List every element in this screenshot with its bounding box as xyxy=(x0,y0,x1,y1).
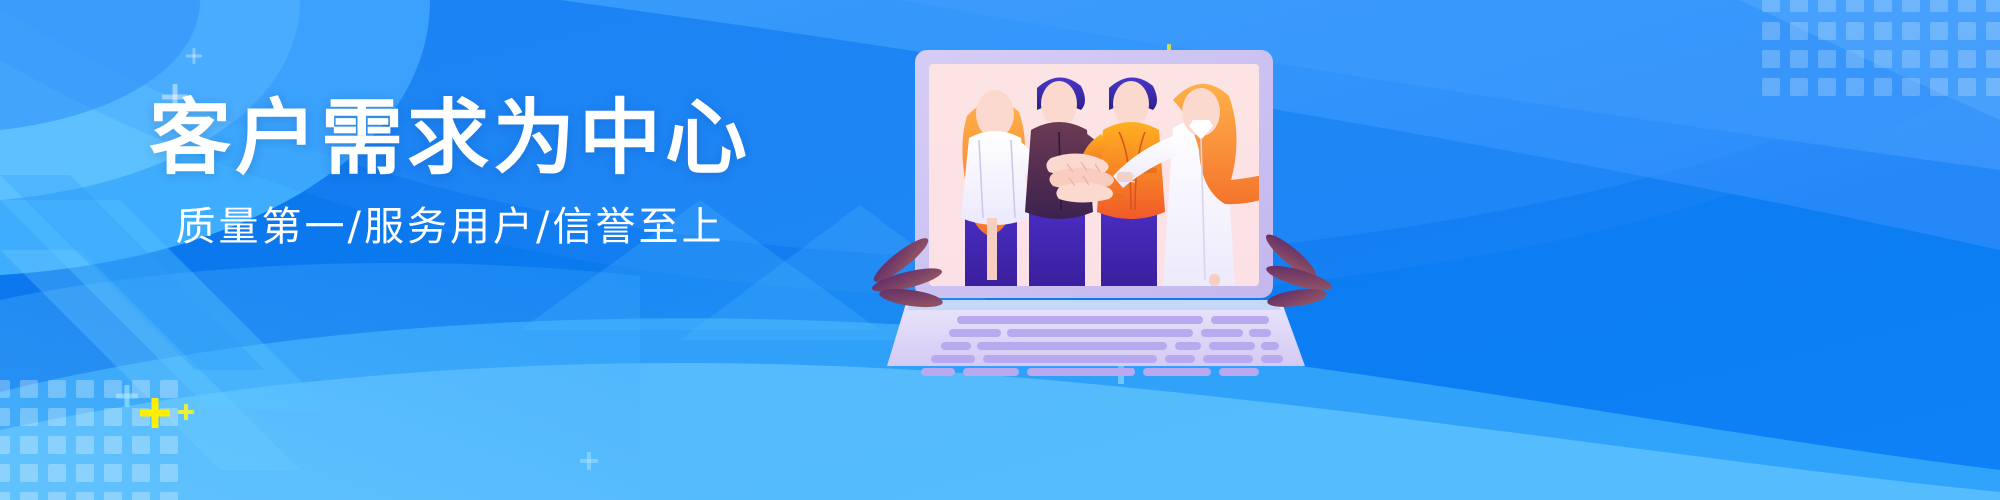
laptop-keyboard-base xyxy=(887,300,1305,376)
plus-yellow-corner-icon xyxy=(140,398,170,428)
leaf-cluster-right xyxy=(1261,229,1334,310)
plus-yellow-dim-icon xyxy=(178,404,194,420)
plus-white-tiny-icon xyxy=(186,48,202,64)
marketing-banner: 客户需求为中心 质量第一/服务用户/信誉至上 xyxy=(0,0,2000,500)
text-block: 客户需求为中心 质量第一/服务用户/信誉至上 xyxy=(0,96,900,249)
plus-cyan-edge-icon xyxy=(580,452,598,470)
page-subtitle: 质量第一/服务用户/信誉至上 xyxy=(0,205,900,249)
dot-grid-top-right xyxy=(1762,0,2000,96)
page-title: 客户需求为中心 xyxy=(0,96,900,183)
laptop-team-illustration xyxy=(905,42,1345,372)
plus-cyan-corner-icon xyxy=(116,385,138,407)
